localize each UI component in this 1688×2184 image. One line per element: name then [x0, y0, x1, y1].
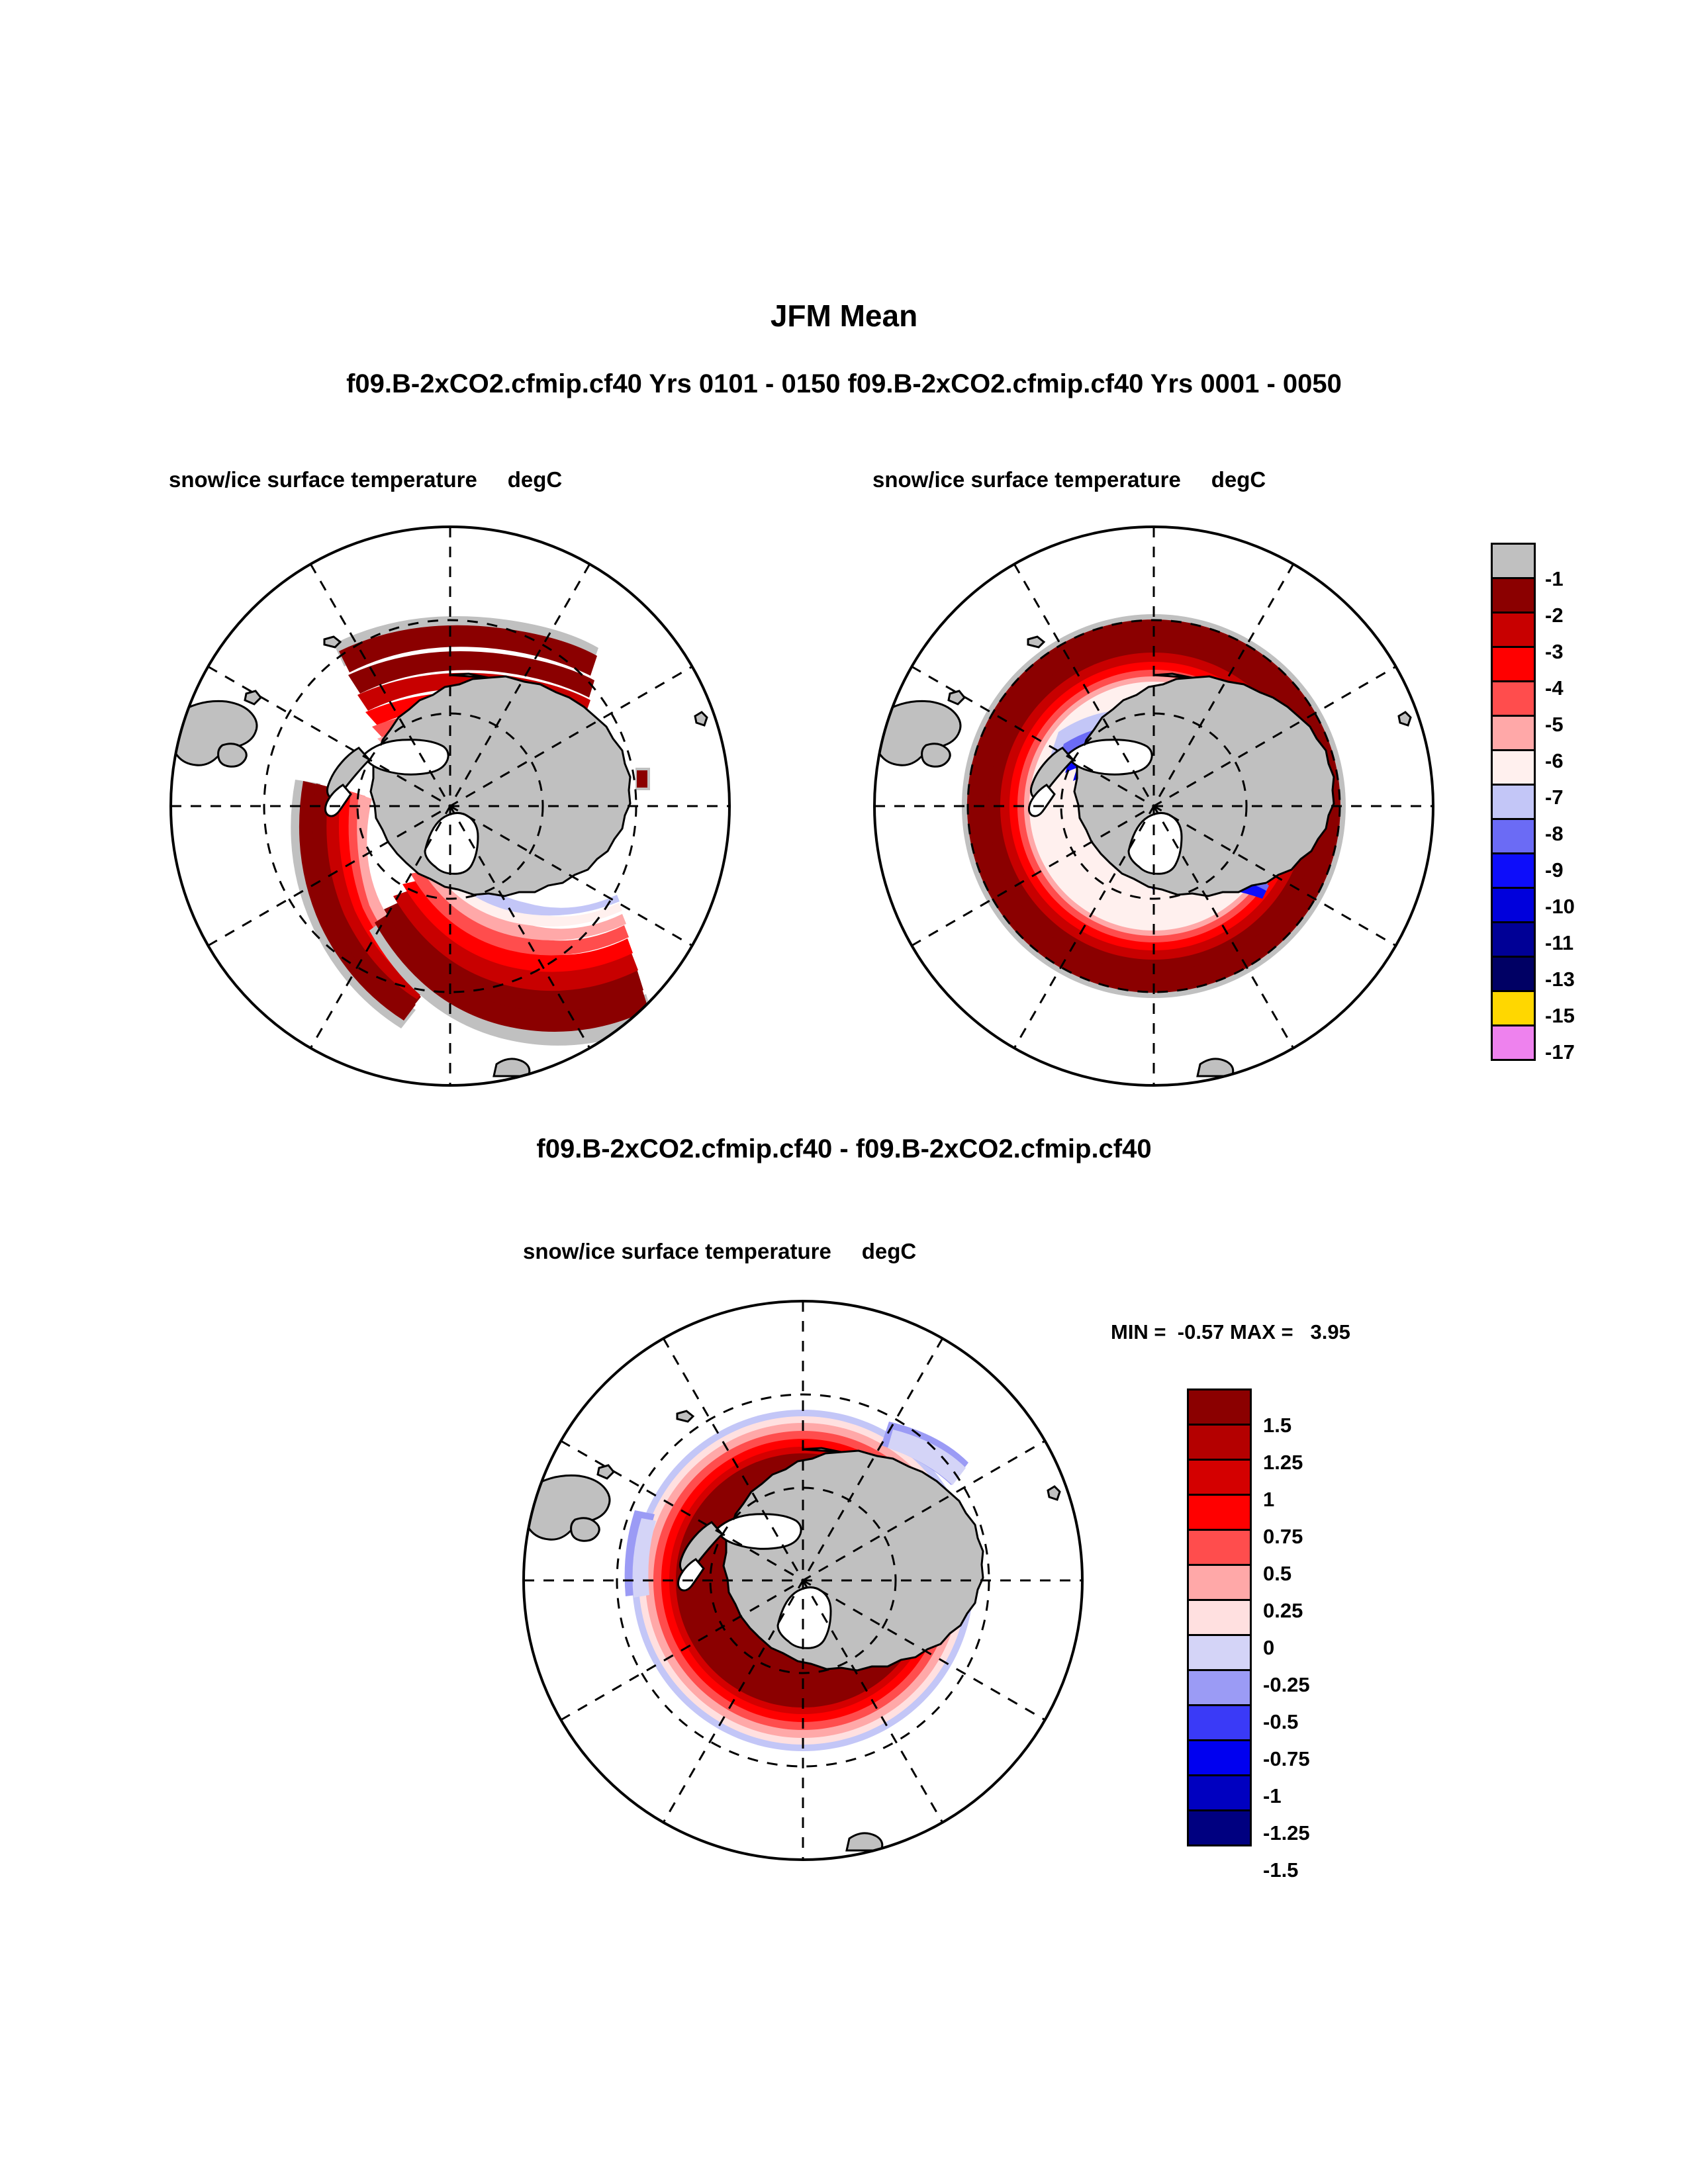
page-subtitle: f09.B-2xCO2.cfmip.cf40 Yrs 0101 - 0150 f…	[0, 369, 1688, 399]
colorbar-tick-label: -1	[1545, 569, 1564, 589]
south-america-landmass	[874, 691, 964, 766]
colorbar-tick-label: 1.5	[1263, 1415, 1291, 1435]
colorbar-swatch	[1491, 543, 1536, 579]
colorbar-swatch	[1187, 1704, 1252, 1741]
island-south-georgia	[324, 637, 340, 647]
colorbar-tick-label: -0.25	[1263, 1674, 1310, 1695]
island-nz	[1399, 712, 1411, 725]
colorbar-tick-label: -9	[1545, 860, 1564, 880]
island-south-georgia	[1028, 637, 1044, 647]
colorbar-swatch	[1187, 1388, 1252, 1426]
colorbar-swatch	[1491, 852, 1536, 889]
colorbar-tick-label: -1.5	[1263, 1860, 1298, 1880]
colorbar-swatch	[1491, 887, 1536, 923]
colorbar-swatch	[1491, 1024, 1536, 1061]
colorbar-swatch	[1187, 1669, 1252, 1706]
colorbar-tick-label: -11	[1545, 933, 1573, 953]
colorbar-swatch	[1491, 956, 1536, 992]
colorbar-swatch	[1187, 1529, 1252, 1566]
polar-map-case2	[869, 522, 1438, 1091]
colorbar-swatch	[1187, 1494, 1252, 1531]
colorbar-tick-label: 0.5	[1263, 1563, 1291, 1584]
panel-heading-case2: snow/ice surface temperature degC	[872, 467, 1266, 492]
colorbar-tick-label: 0.75	[1263, 1526, 1303, 1547]
colorbar-tick-label: -3	[1545, 641, 1564, 662]
panel-heading-case1: snow/ice surface temperature degC	[169, 467, 562, 492]
colorbar-swatch	[1187, 1424, 1252, 1461]
island-tasmania	[494, 1059, 530, 1076]
graticule-lines	[874, 527, 1433, 1085]
south-america-landmass	[171, 691, 261, 766]
colorbar-tick-label: -2	[1545, 605, 1564, 625]
colorbar-tick-label: -17	[1545, 1042, 1575, 1062]
colorbar-tick-label: -0.5	[1263, 1711, 1298, 1732]
colorbar-swatch	[1491, 749, 1536, 786]
colorbar-tick-label: -5	[1545, 714, 1564, 735]
colorbar-swatch	[1187, 1634, 1252, 1671]
panel-heading-diff: snow/ice surface temperature degC	[523, 1239, 916, 1264]
colorbar-swatch	[1187, 1739, 1252, 1776]
colorbar-tick-label: 1.25	[1263, 1452, 1303, 1473]
colorbar-swatch	[1491, 612, 1536, 648]
colorbar-swatch	[1187, 1459, 1252, 1496]
island-nz	[1048, 1486, 1060, 1500]
colorbar-swatch	[1491, 680, 1536, 717]
polar-map-case1	[165, 522, 735, 1091]
graticule-lines	[524, 1301, 1082, 1860]
colorbar-tick-label: -0.75	[1263, 1749, 1310, 1769]
page-title: JFM Mean	[0, 298, 1688, 334]
island-tasmania	[1197, 1059, 1233, 1076]
colorbar-swatch	[1187, 1564, 1252, 1601]
colorbar-swatch	[1187, 1809, 1252, 1846]
colorbar-swatch	[1491, 646, 1536, 682]
colorbar-tick-label: -7	[1545, 787, 1564, 807]
colorbar-tick-label: -13	[1545, 969, 1575, 989]
colorbar-swatch	[1491, 715, 1536, 751]
colorbar-tick-label: 0.25	[1263, 1600, 1303, 1621]
colorbar-diff	[1187, 1388, 1252, 1870]
colorbar-tick-label: -1.25	[1263, 1823, 1310, 1843]
colorbar-tick-label: -8	[1545, 823, 1564, 844]
minmax-annotation: MIN = -0.57 MAX = 3.95	[1111, 1320, 1350, 1344]
diff-panel-title: f09.B-2xCO2.cfmip.cf40 - f09.B-2xCO2.cfm…	[0, 1134, 1688, 1164]
colorbar-tick-label: 1	[1263, 1489, 1274, 1510]
colorbar-swatch	[1491, 784, 1536, 820]
island-tasmania	[847, 1833, 882, 1850]
colorbar-swatch	[1187, 1774, 1252, 1811]
south-america-landmass	[524, 1465, 614, 1541]
colorbar-tick-label: -1	[1263, 1786, 1282, 1806]
colorbar-tick-label: -15	[1545, 1005, 1575, 1026]
colorbar-main	[1491, 543, 1536, 1089]
colorbar-tick-label: 0	[1263, 1637, 1274, 1658]
colorbar-swatch	[1187, 1599, 1252, 1636]
island-south-georgia	[677, 1411, 693, 1422]
island-nz	[695, 712, 707, 725]
colorbar-swatch	[1491, 818, 1536, 854]
colorbar-swatch	[1491, 921, 1536, 958]
colorbar-swatch	[1491, 990, 1536, 1026]
polar-map-diff	[518, 1296, 1088, 1865]
colorbar-tick-label: -4	[1545, 678, 1564, 698]
colorbar-tick-label: -10	[1545, 896, 1575, 917]
colorbar-tick-label: -6	[1545, 751, 1564, 771]
colorbar-swatch	[1491, 577, 1536, 614]
